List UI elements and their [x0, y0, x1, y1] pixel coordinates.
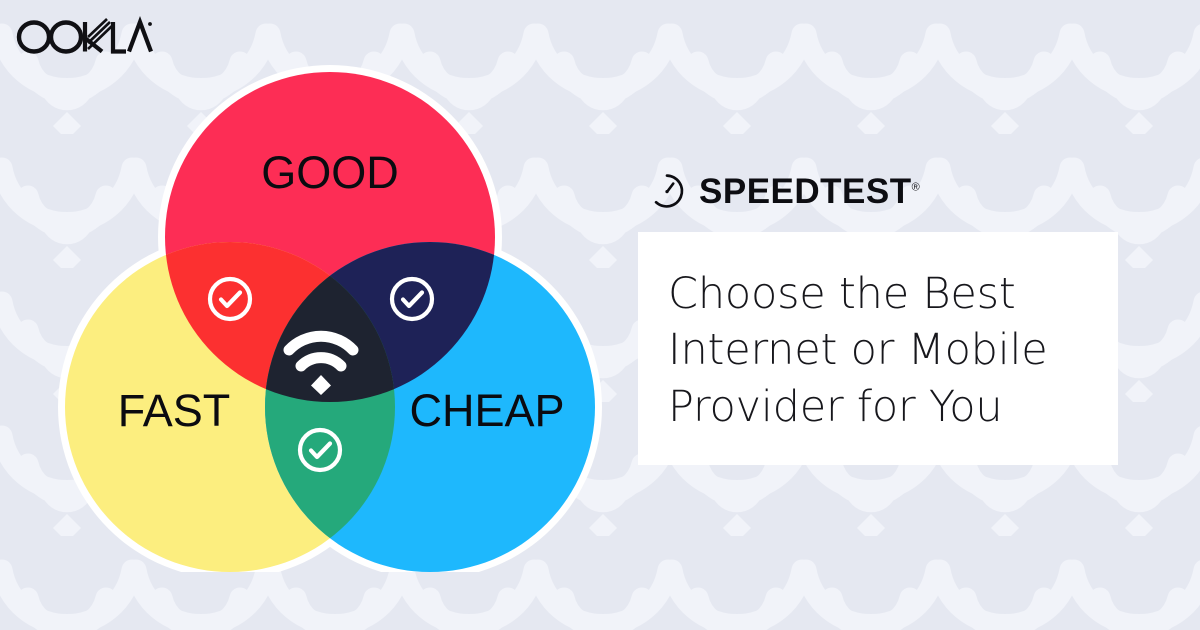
promo-banner: GOOD FAST CHEAP	[0, 0, 1200, 630]
registered-mark: ®	[912, 181, 920, 193]
speedtest-wordmark: SPEEDTEST®	[699, 174, 920, 209]
venn-label-cheap: CHEAP	[409, 385, 564, 436]
speedometer-icon	[648, 172, 686, 210]
page-title: Choose the Best Internet or Mobile Provi…	[668, 266, 1088, 435]
speedtest-logo[interactable]: SPEEDTEST®	[648, 168, 1123, 214]
right-content-column: SPEEDTEST® Choose the Best Internet or M…	[638, 168, 1123, 465]
headline-line-1: Choose the Best	[668, 266, 1088, 322]
venn-label-fast: FAST	[118, 385, 231, 436]
ookla-logo[interactable]	[14, 16, 154, 56]
speedtest-wordmark-text: SPEEDTEST	[699, 172, 912, 211]
headline-line-3: Provider for You	[668, 379, 1088, 435]
venn-label-good: GOOD	[261, 147, 399, 198]
headline-card: Choose the Best Internet or Mobile Provi…	[638, 232, 1118, 465]
good-fast-cheap-venn-diagram: GOOD FAST CHEAP	[55, 62, 605, 572]
headline-line-2: Internet or Mobile	[668, 322, 1088, 378]
